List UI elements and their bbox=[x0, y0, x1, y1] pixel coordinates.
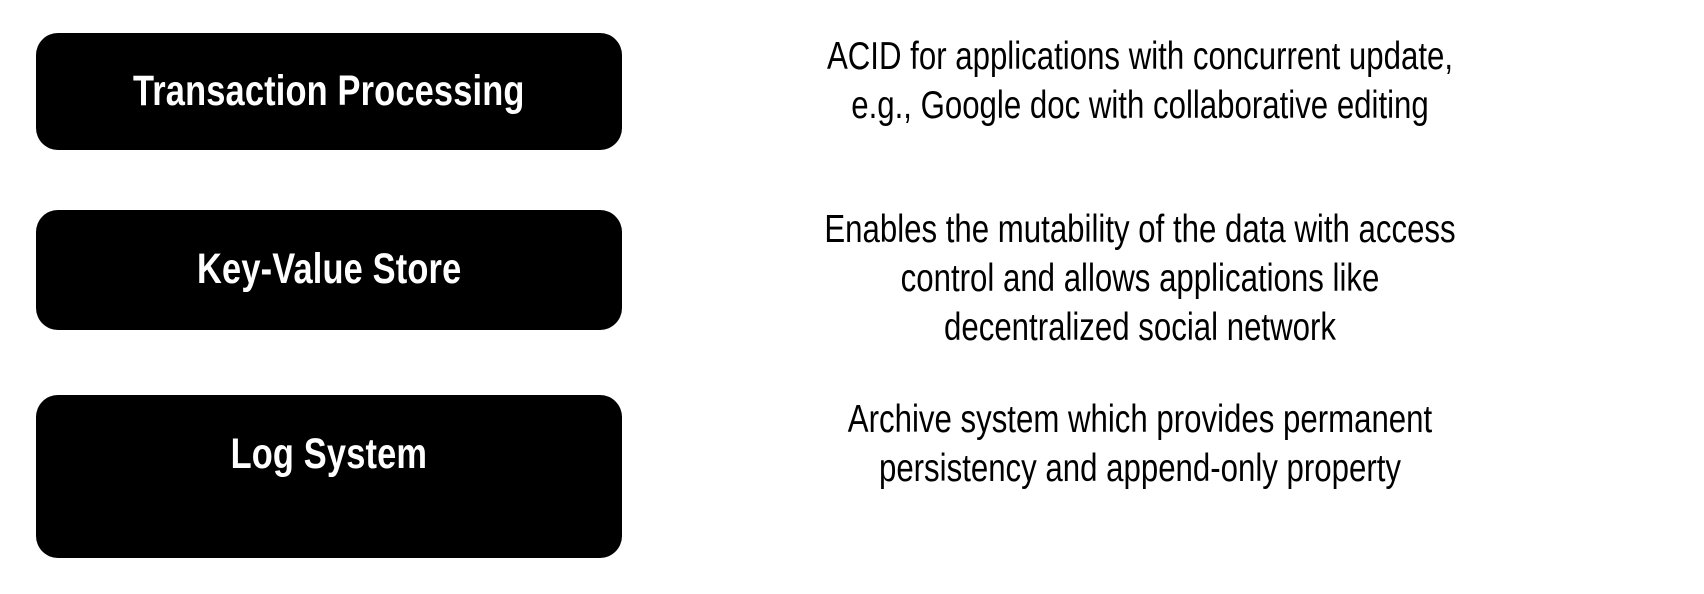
component-row-key-value-store: Key-Value Store Enables the mutability o… bbox=[0, 210, 1704, 330]
description-line: Archive system which provides permanent bbox=[804, 395, 1476, 444]
component-row-log-system: Log System Archive system which provides… bbox=[0, 395, 1704, 558]
description-text-wrapper: Archive system which provides permanent … bbox=[804, 395, 1476, 493]
description-line: Enables the mutability of the data with … bbox=[804, 205, 1476, 254]
component-description-key-value-store: Enables the mutability of the data with … bbox=[720, 205, 1560, 352]
component-box-transaction-processing[interactable]: Transaction Processing bbox=[36, 33, 622, 150]
description-line: decentralized social network bbox=[804, 303, 1476, 352]
slide-canvas: Transaction Processing ACID for applicat… bbox=[0, 0, 1704, 594]
description-line: ACID for applications with concurrent up… bbox=[804, 32, 1476, 81]
component-description-log-system: Archive system which provides permanent … bbox=[720, 395, 1560, 493]
component-box-label: Key-Value Store bbox=[197, 247, 461, 292]
component-box-label: Transaction Processing bbox=[133, 69, 525, 114]
component-box-label: Log System bbox=[231, 432, 428, 477]
component-row-transaction-processing: Transaction Processing ACID for applicat… bbox=[0, 33, 1704, 150]
description-line: e.g., Google doc with collaborative edit… bbox=[804, 81, 1476, 130]
component-description-transaction-processing: ACID for applications with concurrent up… bbox=[720, 32, 1560, 130]
description-text-wrapper: ACID for applications with concurrent up… bbox=[804, 32, 1476, 130]
component-box-key-value-store[interactable]: Key-Value Store bbox=[36, 210, 622, 330]
description-line: control and allows applications like bbox=[804, 254, 1476, 303]
description-text-wrapper: Enables the mutability of the data with … bbox=[804, 205, 1476, 352]
component-box-log-system[interactable]: Log System bbox=[36, 395, 622, 558]
description-line: persistency and append-only property bbox=[804, 444, 1476, 493]
